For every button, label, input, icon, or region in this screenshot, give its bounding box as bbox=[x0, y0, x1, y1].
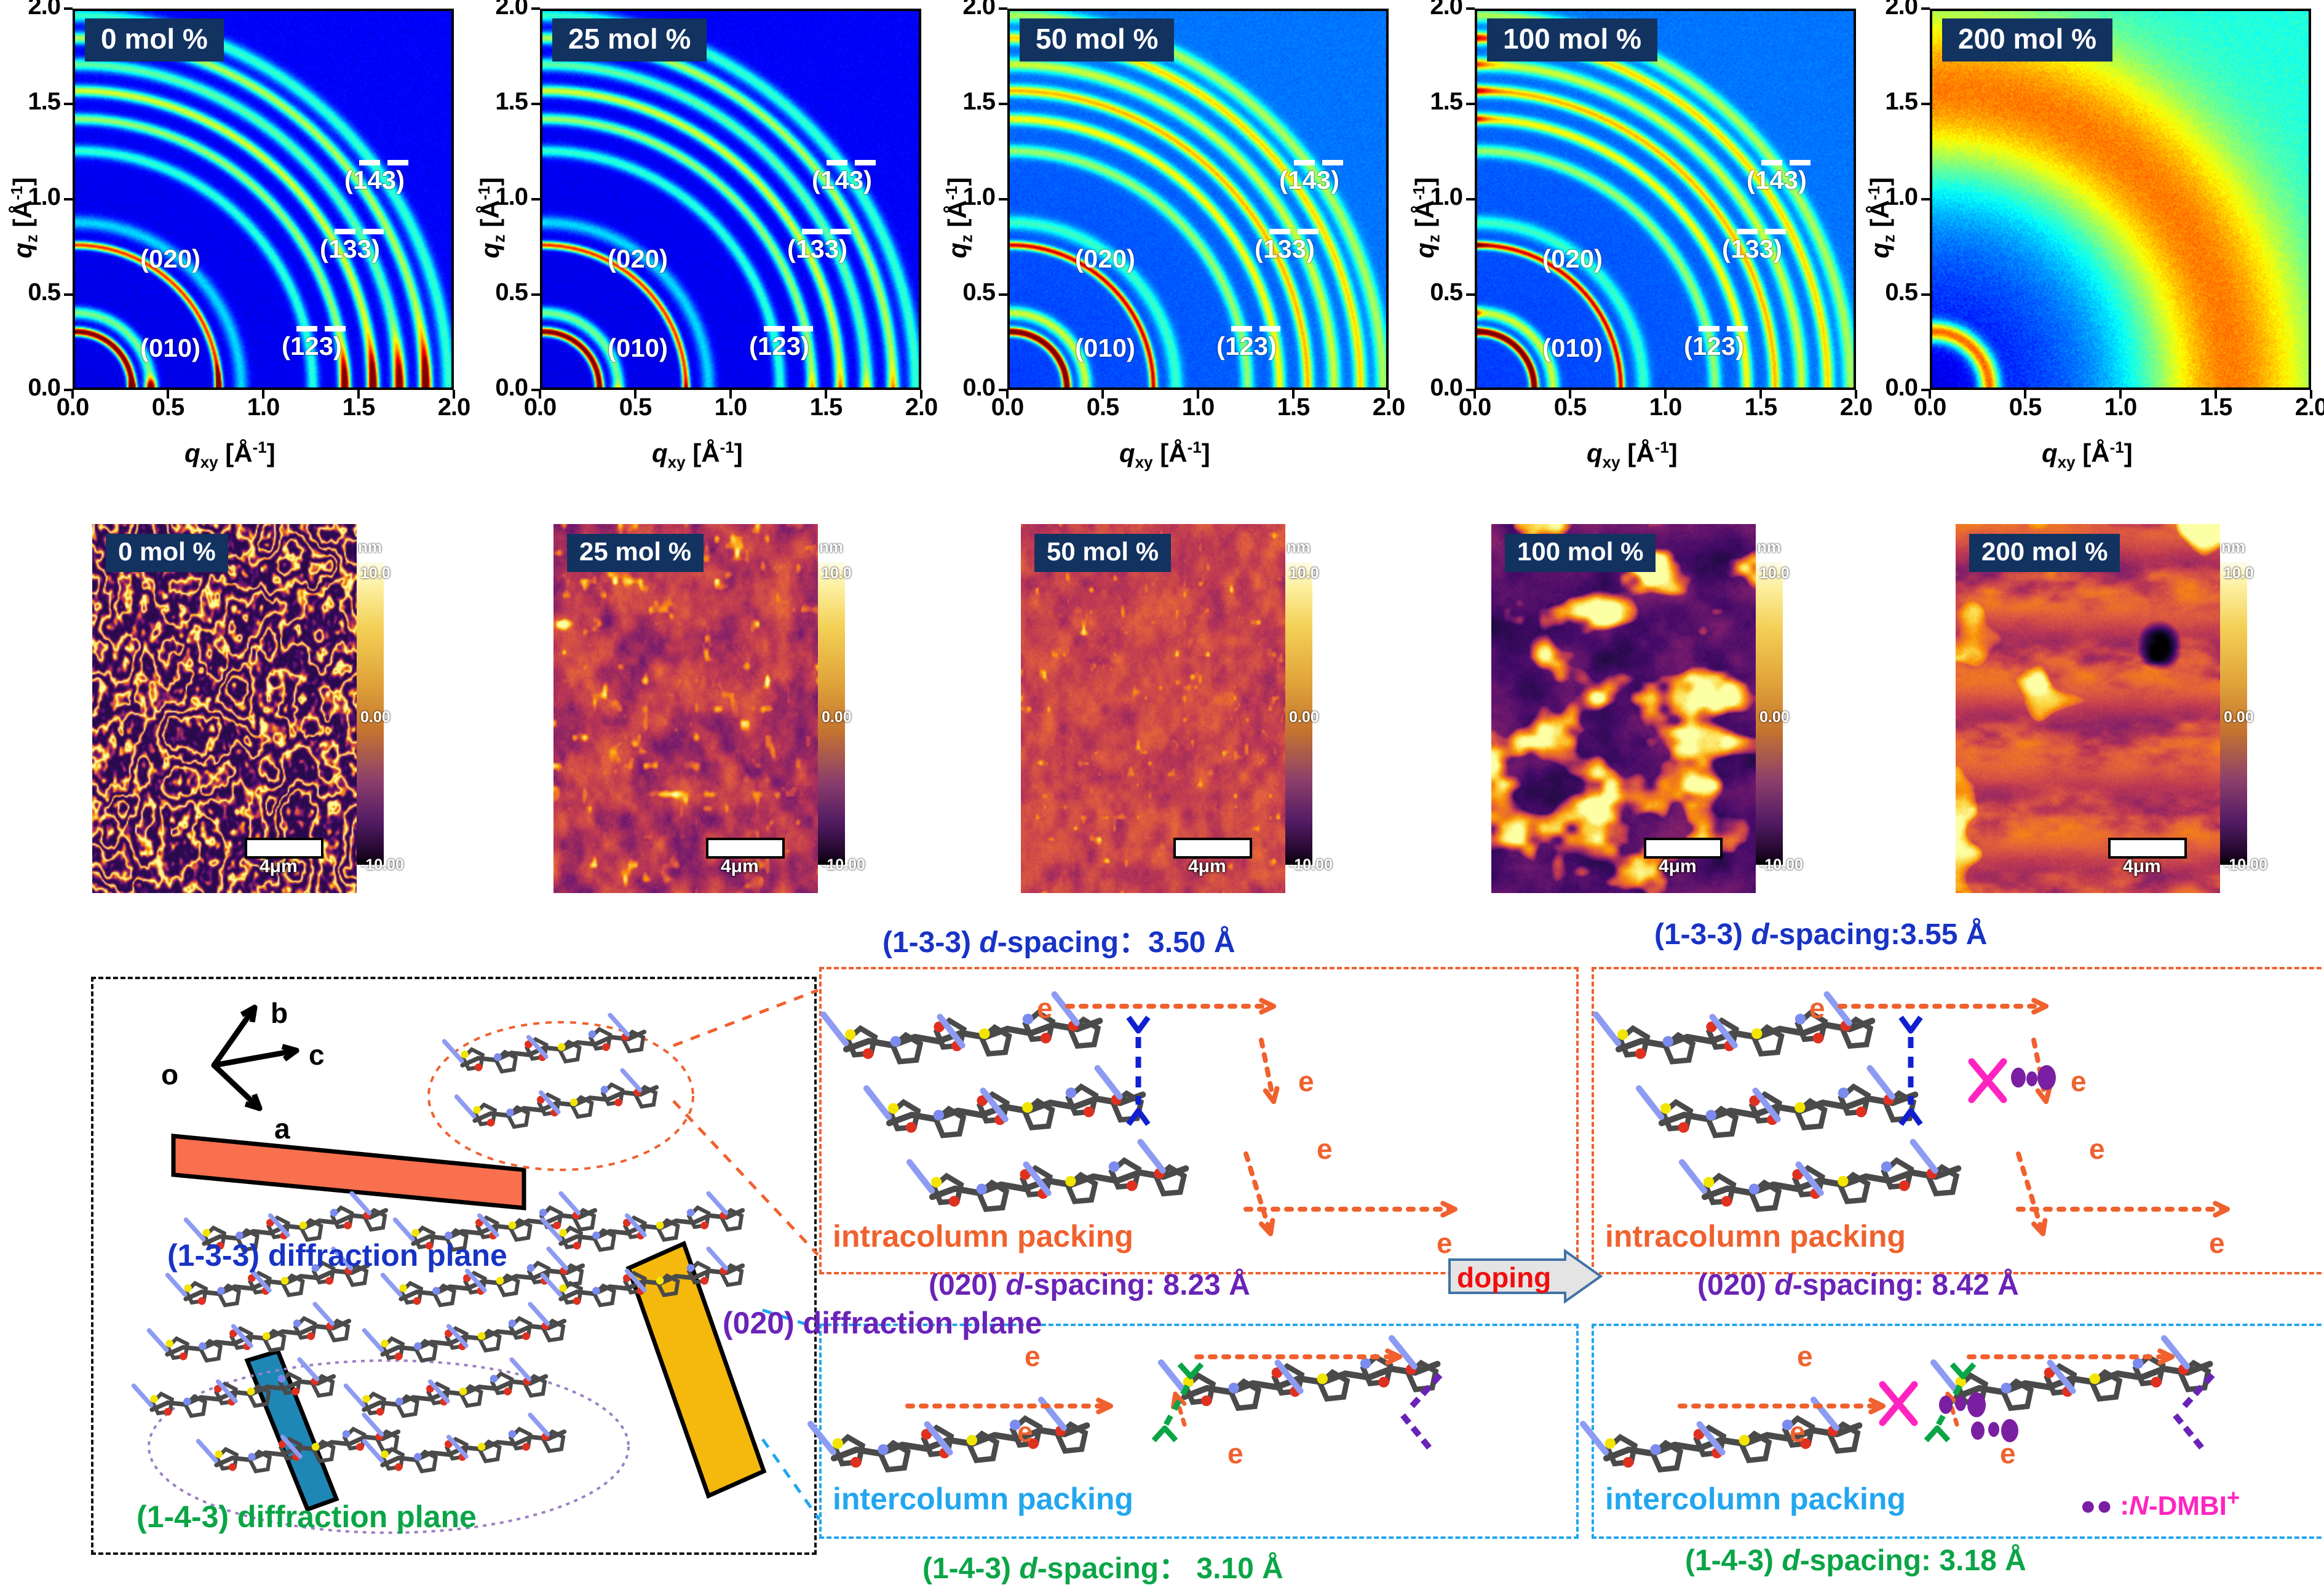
giwaxs-concentration-badge: 100 mol % bbox=[1487, 18, 1657, 62]
giwaxs-plot-area-3 bbox=[1475, 9, 1856, 390]
afm-scale-bar-label: 4μm bbox=[2123, 856, 2161, 877]
molecule-chain-L12 bbox=[542, 1189, 745, 1258]
afm-colorbar-unit: nm bbox=[819, 538, 843, 557]
giwaxs-xtick-mark bbox=[1473, 390, 1476, 399]
dopant-dot-0 bbox=[2011, 1068, 2026, 1087]
giwaxs-x-axis-label: qxy [Å-1] bbox=[1587, 438, 1678, 472]
giwaxs-diffraction-image bbox=[1932, 11, 2309, 387]
hkl-overbar-group bbox=[1216, 326, 1277, 332]
electron-arrow-lower bbox=[1680, 1400, 1883, 1412]
dipole-arrow-1 bbox=[1403, 1415, 1430, 1449]
crystal-axis-label-a: a bbox=[274, 1112, 290, 1145]
giwaxs-ytick-mark bbox=[531, 198, 540, 201]
giwaxs-ytick-mark bbox=[64, 7, 73, 10]
giwaxs-xtick-mark bbox=[1569, 390, 1571, 399]
giwaxs-concentration-badge: 25 mol % bbox=[552, 18, 707, 62]
giwaxs-xtick-mark bbox=[1387, 390, 1390, 399]
molecule-chain-pristine-1 bbox=[867, 1065, 1144, 1142]
giwaxs-hkl-label: (143) bbox=[1747, 160, 1807, 193]
intracolumn-title: intracolumn packing bbox=[833, 1218, 1133, 1254]
doping-label: doping bbox=[1457, 1261, 1551, 1294]
hkl-overbar-group bbox=[344, 160, 405, 165]
hkl-text: (133) bbox=[1255, 234, 1315, 263]
hkl-text: (020) bbox=[140, 244, 200, 273]
molecule-chain-doped-1 bbox=[1639, 1065, 1917, 1142]
hkl-text: (123) bbox=[1684, 332, 1744, 360]
giwaxs-hkl-label: (010) bbox=[140, 335, 200, 361]
crystal-axis-label-origin: o bbox=[161, 1058, 178, 1091]
giwaxs-plot-area-0 bbox=[73, 9, 454, 390]
afm-concentration-badge: 50 mol % bbox=[1034, 534, 1171, 572]
giwaxs-ytick-mark bbox=[1466, 103, 1475, 105]
afm-scale-bar-label: 4μm bbox=[1188, 856, 1226, 877]
afm-colorbar-tick: 0.00 bbox=[360, 709, 391, 726]
giwaxs-ytick: 1.0 bbox=[460, 183, 528, 211]
giwaxs-xtick-mark bbox=[2024, 390, 2026, 399]
dopant-dot-0 bbox=[1939, 1396, 1953, 1414]
giwaxs-ytick-mark bbox=[1466, 198, 1475, 201]
dspacing-143-doped: (1-4-3) d-spacing: 3.18 Å bbox=[1685, 1544, 2026, 1578]
afm-colorbar-tick: 0.00 bbox=[822, 709, 852, 726]
afm-concentration-badge: 100 mol % bbox=[1505, 534, 1656, 572]
giwaxs-concentration-badge: 200 mol % bbox=[1942, 18, 2112, 62]
giwaxs-hkl-label: (133) bbox=[1255, 229, 1315, 262]
hkl-text: (123) bbox=[282, 332, 342, 360]
giwaxs-xtick-mark bbox=[825, 390, 827, 399]
giwaxs-hkl-label: (020) bbox=[1542, 246, 1603, 272]
molecule-chain-pristine-0 bbox=[823, 991, 1101, 1068]
dopant-dot-4 bbox=[1988, 1422, 1999, 1437]
hkl-text: (143) bbox=[1747, 165, 1807, 194]
electron-arrow-bottom bbox=[1246, 1203, 1455, 1215]
hkl-text: (010) bbox=[140, 333, 200, 362]
hkl-text: (133) bbox=[787, 234, 847, 263]
giwaxs-ytick: 1.5 bbox=[1395, 88, 1462, 116]
hkl-text: (133) bbox=[320, 234, 380, 263]
hkl-text: (020) bbox=[1075, 244, 1135, 273]
giwaxs-ytick: 2.0 bbox=[1850, 0, 1917, 20]
giwaxs-ytick-mark bbox=[1466, 293, 1475, 296]
hkl-overbar-group bbox=[320, 229, 380, 234]
electron-label-1: e bbox=[1017, 1415, 1033, 1448]
hkl-overbar-group bbox=[1255, 229, 1315, 234]
giwaxs-xtick-mark bbox=[1929, 390, 1931, 399]
hkl-text: (010) bbox=[1542, 333, 1603, 362]
giwaxs-xtick-mark bbox=[453, 390, 455, 399]
hkl-text: (143) bbox=[344, 165, 405, 194]
dopant-legend: ●● :N-DMBI+ bbox=[2080, 1485, 2240, 1522]
electron-label-2: e bbox=[1317, 1132, 1333, 1166]
afm-panel-2: nm10.00.00-10.004μm50 mol % bbox=[1021, 524, 1341, 893]
giwaxs-diffraction-image bbox=[1010, 11, 1386, 387]
giwaxs-ytick: 0.5 bbox=[460, 279, 528, 306]
dspacing-133-pristine: (1-3-3) d-spacing：3.50 Å bbox=[882, 918, 1235, 961]
afm-colorbar-tick: 10.0 bbox=[822, 565, 852, 582]
intracolumn-panel-doped: eeeeintracolumn packing bbox=[1592, 967, 2324, 1274]
giwaxs-ytick-mark bbox=[1921, 103, 1930, 105]
giwaxs-x-axis-label: qxy [Å-1] bbox=[184, 438, 276, 472]
electron-arrow-top bbox=[1068, 1000, 1274, 1012]
afm-scale-bar bbox=[1644, 838, 1723, 859]
giwaxs-ytick-mark bbox=[531, 103, 540, 105]
crystal-axis-label-b: b bbox=[271, 996, 288, 1030]
giwaxs-ytick: 2.0 bbox=[460, 0, 528, 20]
intracolumn-title: intracolumn packing bbox=[1605, 1218, 1906, 1254]
afm-colorbar-tick: 10.0 bbox=[360, 565, 391, 582]
giwaxs-hkl-label: (020) bbox=[1075, 246, 1135, 272]
giwaxs-ytick: 1.5 bbox=[0, 88, 60, 116]
molecule-chain-L4 bbox=[444, 1011, 646, 1080]
afm-concentration-badge: 25 mol % bbox=[567, 534, 704, 572]
electron-label-1: e bbox=[1298, 1065, 1314, 1098]
figure-root: qz [Å-1]qxy [Å-1]0.00.51.01.52.00.00.51.… bbox=[0, 0, 2324, 1593]
molecule-chain-doped-0 bbox=[1596, 991, 1874, 1068]
giwaxs-ytick: 1.5 bbox=[1850, 88, 1917, 116]
dspacing-133-doped: (1-3-3) d-spacing:3.55 Å bbox=[1654, 918, 1987, 951]
afm-colorbar-tick: 10.0 bbox=[2224, 565, 2254, 582]
afm-colorbar-tick: 0.00 bbox=[2224, 709, 2254, 726]
giwaxs-concentration-badge: 50 mol % bbox=[1020, 18, 1174, 62]
giwaxs-plot-area-2 bbox=[1007, 9, 1389, 390]
afm-colorbar-unit: nm bbox=[1287, 538, 1311, 557]
giwaxs-hkl-label: (133) bbox=[1722, 229, 1782, 262]
giwaxs-panel-2: qz [Å-1]qxy [Å-1]0.00.51.01.52.00.00.51.… bbox=[935, 0, 1402, 492]
afm-colorbar-tick: -10.00 bbox=[1289, 856, 1333, 874]
molecule-chain-L5 bbox=[456, 1066, 659, 1135]
dopant-dot-3 bbox=[1971, 1421, 1985, 1440]
afm-colorbar-tick: 0.00 bbox=[1289, 709, 1319, 726]
electron-arrow-mid bbox=[2018, 1154, 2045, 1234]
giwaxs-ytick: 2.0 bbox=[927, 0, 995, 20]
giwaxs-ytick-mark bbox=[999, 103, 1007, 105]
intracolumn-panel-pristine: eeeeintracolumn packing bbox=[819, 967, 1579, 1274]
giwaxs-hkl-label: (123) bbox=[282, 326, 342, 359]
plane-143-label: (1-4-3) diffraction plane bbox=[137, 1499, 477, 1535]
molecule-chain-L9 bbox=[346, 1355, 548, 1424]
giwaxs-panel-0: qz [Å-1]qxy [Å-1]0.00.51.01.52.00.00.51.… bbox=[0, 0, 467, 492]
hkl-overbar-group bbox=[1684, 326, 1744, 332]
molecule-chain-L8 bbox=[364, 1300, 566, 1369]
hkl-overbar-group bbox=[1747, 160, 1807, 165]
molecule-chain-L3 bbox=[133, 1355, 336, 1424]
dspacing-020-pristine: (020) d-spacing: 8.23 Å bbox=[929, 1268, 1250, 1302]
electron-label-1: e bbox=[1790, 1415, 1806, 1448]
crystal-axis-a bbox=[214, 1065, 260, 1108]
electron-label-0: e bbox=[1025, 1340, 1041, 1373]
giwaxs-plot-area-1 bbox=[540, 9, 921, 390]
giwaxs-xtick-mark bbox=[1664, 390, 1667, 399]
dipole-arrow-1 bbox=[2175, 1415, 2203, 1449]
plane-133-shape bbox=[173, 1136, 524, 1208]
giwaxs-xtick-mark bbox=[262, 390, 264, 399]
hkl-text: (010) bbox=[1075, 333, 1135, 362]
giwaxs-ytick-mark bbox=[1921, 7, 1930, 10]
afm-scale-bar bbox=[245, 838, 323, 859]
giwaxs-hkl-label: (123) bbox=[749, 326, 809, 359]
crystal-structure-box: obca(1-3-3) diffraction plane(1-4-3) dif… bbox=[91, 977, 817, 1555]
giwaxs-xtick-mark bbox=[2215, 390, 2217, 399]
electron-label-0: e bbox=[1809, 991, 1825, 1025]
giwaxs-diffraction-image bbox=[75, 11, 451, 387]
afm-panel-0: nm10.00.00-10.004μm0 mol % bbox=[92, 524, 412, 893]
giwaxs-xtick-mark bbox=[539, 390, 541, 399]
electron-label-1: e bbox=[2071, 1065, 2087, 1098]
electron-arrow-lower bbox=[908, 1400, 1111, 1412]
giwaxs-xtick-mark bbox=[167, 390, 169, 399]
doping-arrow-button[interactable]: doping bbox=[1448, 1250, 1602, 1303]
intercolumn-title: intercolumn packing bbox=[833, 1481, 1133, 1517]
giwaxs-xtick-mark bbox=[1101, 390, 1104, 399]
afm-concentration-badge: 0 mol % bbox=[106, 534, 228, 572]
giwaxs-xtick-mark bbox=[1197, 390, 1199, 399]
molecule-chain-pristine-2 bbox=[910, 1138, 1188, 1216]
afm-scale-bar-label: 4μm bbox=[721, 856, 759, 877]
afm-colorbar-unit: nm bbox=[2221, 538, 2245, 557]
giwaxs-hkl-label: (010) bbox=[1075, 335, 1135, 361]
giwaxs-hkl-label: (143) bbox=[344, 160, 405, 193]
afm-colorbar-tick: 10.0 bbox=[1289, 565, 1319, 582]
giwaxs-ytick-mark bbox=[999, 198, 1007, 201]
afm-colorbar-tick: -10.00 bbox=[822, 856, 865, 874]
intercolumn-panel-pristine: eeeintercolumn packing bbox=[819, 1324, 1579, 1539]
giwaxs-xtick-mark bbox=[71, 390, 74, 399]
giwaxs-ytick-mark bbox=[999, 7, 1007, 10]
electron-arrow-upper bbox=[1261, 1040, 1277, 1102]
giwaxs-hkl-label: (123) bbox=[1216, 326, 1277, 359]
giwaxs-hkl-label: (143) bbox=[1279, 160, 1339, 193]
dopant-dot-1 bbox=[2026, 1071, 2037, 1086]
afm-colorbar-unit: nm bbox=[1757, 538, 1781, 557]
giwaxs-x-axis-label: qxy [Å-1] bbox=[1119, 438, 1210, 472]
hkl-overbar-group bbox=[749, 326, 809, 332]
giwaxs-diffraction-image bbox=[1477, 11, 1854, 387]
giwaxs-xtick-mark bbox=[1759, 390, 1762, 399]
dspacing-143-pristine: (1-4-3) d-spacing： 3.10 Å bbox=[922, 1544, 1283, 1587]
afm-scale-bar bbox=[1173, 838, 1252, 859]
giwaxs-hkl-label: (133) bbox=[320, 229, 380, 262]
hkl-text: (143) bbox=[1279, 165, 1339, 194]
giwaxs-hkl-label: (123) bbox=[1684, 326, 1744, 359]
blocked-path-x bbox=[1972, 1062, 2004, 1100]
giwaxs-ytick-mark bbox=[1921, 198, 1930, 201]
electron-label-3: e bbox=[2209, 1226, 2225, 1260]
giwaxs-ytick-mark bbox=[64, 103, 73, 105]
afm-colorbar-unit: nm bbox=[358, 538, 382, 557]
giwaxs-xtick-mark bbox=[2119, 390, 2122, 399]
intercolumn-panel-doped: eee●● :N-DMBI+intercolumn packing bbox=[1592, 1324, 2324, 1539]
giwaxs-hkl-label: (010) bbox=[1542, 335, 1603, 361]
giwaxs-xtick: 2.0 bbox=[2277, 394, 2324, 421]
giwaxs-ytick-mark bbox=[999, 293, 1007, 296]
afm-colorbar-tick: -10.00 bbox=[360, 856, 404, 874]
giwaxs-ytick-mark bbox=[64, 293, 73, 296]
dspacing-020-doped: (020) d-spacing: 8.42 Å bbox=[1697, 1268, 2019, 1302]
giwaxs-panel-1: qz [Å-1]qxy [Å-1]0.00.51.01.52.00.00.51.… bbox=[467, 0, 935, 492]
giwaxs-ytick: 0.5 bbox=[0, 279, 60, 306]
giwaxs-ytick: 0.5 bbox=[1850, 279, 1917, 306]
giwaxs-ytick: 1.0 bbox=[1395, 183, 1462, 211]
giwaxs-xtick-mark bbox=[2310, 390, 2312, 399]
electron-label-0: e bbox=[1797, 1340, 1813, 1373]
giwaxs-x-axis-label: qxy [Å-1] bbox=[652, 438, 743, 472]
afm-colorbar-tick: -10.00 bbox=[2224, 856, 2267, 874]
dopant-dot-2 bbox=[2037, 1065, 2056, 1090]
afm-colorbar-tick: 10.0 bbox=[1759, 565, 1790, 582]
hkl-text: (123) bbox=[1216, 332, 1277, 360]
afm-concentration-badge: 200 mol % bbox=[1969, 534, 2120, 572]
giwaxs-xtick-mark bbox=[1292, 390, 1295, 399]
molecule-chain-pristine-b bbox=[1161, 1334, 1440, 1416]
hkl-text: (143) bbox=[812, 165, 872, 194]
afm-scale-bar-label: 4μm bbox=[260, 856, 298, 877]
giwaxs-xtick-mark bbox=[634, 390, 637, 399]
giwaxs-ytick: 1.0 bbox=[927, 183, 995, 211]
electron-label-2: e bbox=[1227, 1437, 1243, 1470]
afm-colorbar-tick: 0.00 bbox=[1759, 709, 1790, 726]
giwaxs-x-axis-label: qxy [Å-1] bbox=[2042, 438, 2133, 472]
dopant-dot-2 bbox=[1967, 1392, 1986, 1418]
giwaxs-hkl-label: (010) bbox=[608, 335, 668, 361]
hkl-overbar-group bbox=[787, 229, 847, 234]
plane-020-label: (020) diffraction plane bbox=[723, 1305, 1042, 1341]
afm-colorbar-tick: -10.00 bbox=[1759, 856, 1803, 874]
electron-arrow-mid bbox=[1246, 1154, 1272, 1234]
giwaxs-ytick: 1.5 bbox=[460, 88, 528, 116]
hkl-overbar-group bbox=[282, 326, 342, 332]
blocked-path-x bbox=[1882, 1384, 1914, 1423]
hkl-text: (133) bbox=[1722, 234, 1782, 263]
molecule-chain-doped-2 bbox=[1682, 1138, 1960, 1216]
hkl-overbar-group bbox=[1722, 229, 1782, 234]
afm-panel-1: nm10.00.00-10.004μm25 mol % bbox=[553, 524, 873, 893]
electron-label-2: e bbox=[2000, 1437, 2016, 1470]
giwaxs-ytick: 1.0 bbox=[0, 183, 60, 211]
giwaxs-ytick: 0.5 bbox=[1395, 279, 1462, 306]
crystal-axis-label-c: c bbox=[309, 1038, 325, 1071]
hkl-text: (020) bbox=[1542, 244, 1603, 273]
afm-panel-4: nm10.00.00-10.004μm200 mol % bbox=[1956, 524, 2275, 893]
giwaxs-ytick-mark bbox=[531, 7, 540, 10]
giwaxs-diffraction-image bbox=[542, 11, 919, 387]
giwaxs-ytick: 2.0 bbox=[1395, 0, 1462, 20]
afm-scale-bar bbox=[706, 838, 785, 859]
giwaxs-hkl-label: (020) bbox=[608, 246, 668, 272]
dopant-dot-1 bbox=[1955, 1396, 1966, 1411]
giwaxs-panel-3: qz [Å-1]qxy [Å-1]0.00.51.01.52.00.00.51.… bbox=[1402, 0, 1870, 492]
hkl-text: (020) bbox=[608, 244, 668, 273]
electron-label-0: e bbox=[1037, 991, 1053, 1025]
giwaxs-ytick-mark bbox=[531, 293, 540, 296]
hkl-overbar-group bbox=[812, 160, 872, 165]
afm-scale-bar-label: 4μm bbox=[1659, 856, 1697, 877]
giwaxs-ytick: 0.5 bbox=[927, 279, 995, 306]
hkl-text: (010) bbox=[608, 333, 668, 362]
plane-133-label: (1-3-3) diffraction plane bbox=[167, 1237, 507, 1273]
electron-arrow-top bbox=[1840, 1000, 2046, 1012]
giwaxs-xtick-mark bbox=[357, 390, 360, 399]
giwaxs-ytick: 1.0 bbox=[1850, 183, 1917, 211]
giwaxs-xtick-mark bbox=[920, 390, 922, 399]
giwaxs-hkl-label: (133) bbox=[787, 229, 847, 262]
afm-panel-3: nm10.00.00-10.004μm100 mol % bbox=[1491, 524, 1811, 893]
giwaxs-xtick-mark bbox=[729, 390, 732, 399]
giwaxs-plot-area-4 bbox=[1930, 9, 2311, 390]
giwaxs-ytick: 2.0 bbox=[0, 0, 60, 20]
hkl-text: (123) bbox=[749, 332, 809, 360]
giwaxs-ytick-mark bbox=[1921, 293, 1930, 296]
giwaxs-hkl-label: (020) bbox=[140, 246, 200, 272]
hkl-overbar-group bbox=[1279, 160, 1339, 165]
afm-scale-bar bbox=[2108, 838, 2187, 859]
giwaxs-hkl-label: (143) bbox=[812, 160, 872, 193]
giwaxs-ytick: 1.5 bbox=[927, 88, 995, 116]
intercolumn-title: intercolumn packing bbox=[1605, 1481, 1906, 1517]
giwaxs-xtick-mark bbox=[1006, 390, 1009, 399]
giwaxs-ytick-mark bbox=[1466, 7, 1475, 10]
giwaxs-concentration-badge: 0 mol % bbox=[85, 18, 224, 62]
giwaxs-ytick-mark bbox=[64, 198, 73, 201]
giwaxs-panel-4: qz [Å-1]qxy [Å-1]0.00.51.01.52.00.00.51.… bbox=[1857, 0, 2324, 492]
electron-arrow-bottom bbox=[2018, 1203, 2227, 1215]
electron-label-2: e bbox=[2089, 1132, 2105, 1166]
